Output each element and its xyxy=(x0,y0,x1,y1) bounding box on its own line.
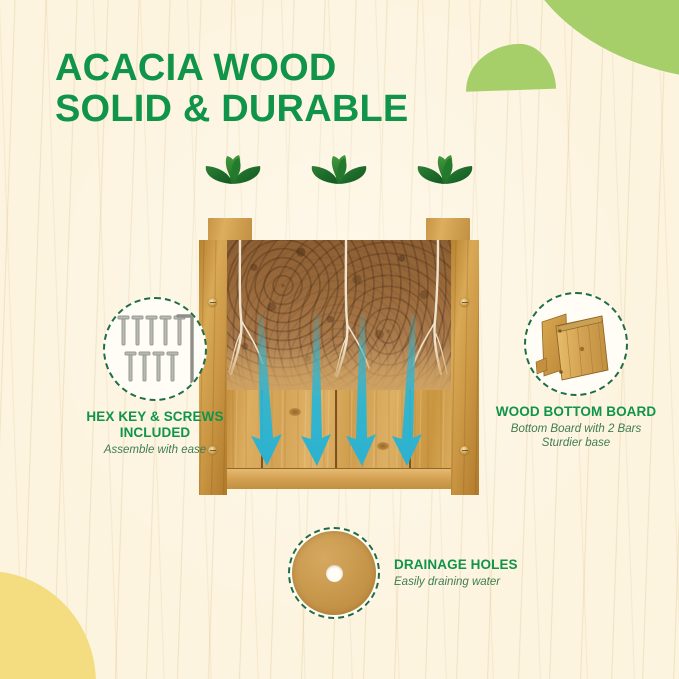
callout-title: WOOD BOTTOM BOARD xyxy=(478,404,674,420)
green-corner-decoration xyxy=(512,0,679,88)
callout-subtitle: Bottom Board with 2 Bars Sturdier base xyxy=(478,422,674,451)
seedling xyxy=(206,155,261,217)
product-infographic: Acacia Wood Solid & Durable xyxy=(0,0,679,679)
callout-hex-key-and-screws: HEX KEY & SCREWS INCLUDED Assemble with … xyxy=(60,297,250,457)
corner-post-right xyxy=(451,240,479,495)
screws-and-hex-key-icon xyxy=(116,312,194,386)
plank-seam xyxy=(335,390,337,468)
wood-knot xyxy=(289,408,301,416)
callout-text: HEX KEY & SCREWS INCLUDED Assemble with … xyxy=(60,409,250,457)
screw-head xyxy=(460,446,469,455)
plank-seam xyxy=(409,390,411,468)
bottom-rail xyxy=(227,468,451,489)
callout-text: DRAINAGE HOLES Easily draining water xyxy=(394,557,518,589)
callout-title: DRAINAGE HOLES xyxy=(394,557,518,573)
yellow-corner-decoration xyxy=(0,571,96,679)
wood-knot xyxy=(377,442,389,450)
drainage-hole xyxy=(326,565,343,582)
callout-subtitle: Easily draining water xyxy=(394,575,518,589)
callout-text: WOOD BOTTOM BOARD Bottom Board with 2 Ba… xyxy=(478,404,674,451)
wood-bottom-board-icon xyxy=(528,296,624,392)
soil-cross-section xyxy=(227,240,451,392)
callout-wood-bottom-board: WOOD BOTTOM BOARD Bottom Board with 2 Ba… xyxy=(478,292,674,451)
screw-row-top xyxy=(118,316,185,345)
soil-bottom-fade xyxy=(227,346,451,392)
front-wood-panel xyxy=(227,390,451,468)
seedling xyxy=(418,155,473,217)
plank-seam xyxy=(261,390,263,468)
callout-drainage-holes: DRAINAGE HOLES Easily draining water xyxy=(288,527,518,619)
callout-circle xyxy=(288,527,380,619)
screw-head xyxy=(460,298,469,307)
callout-title: HEX KEY & SCREWS INCLUDED xyxy=(60,409,250,441)
wood-grain-texture xyxy=(451,240,479,495)
callout-circle xyxy=(103,297,207,401)
screw-row-bottom xyxy=(125,352,178,381)
callout-subtitle: Assemble with ease xyxy=(60,443,250,457)
page-title: Acacia Wood Solid & Durable xyxy=(55,48,408,129)
callout-circle xyxy=(524,292,628,396)
drainage-hole-disc-icon xyxy=(292,531,376,615)
seedling xyxy=(312,155,367,217)
